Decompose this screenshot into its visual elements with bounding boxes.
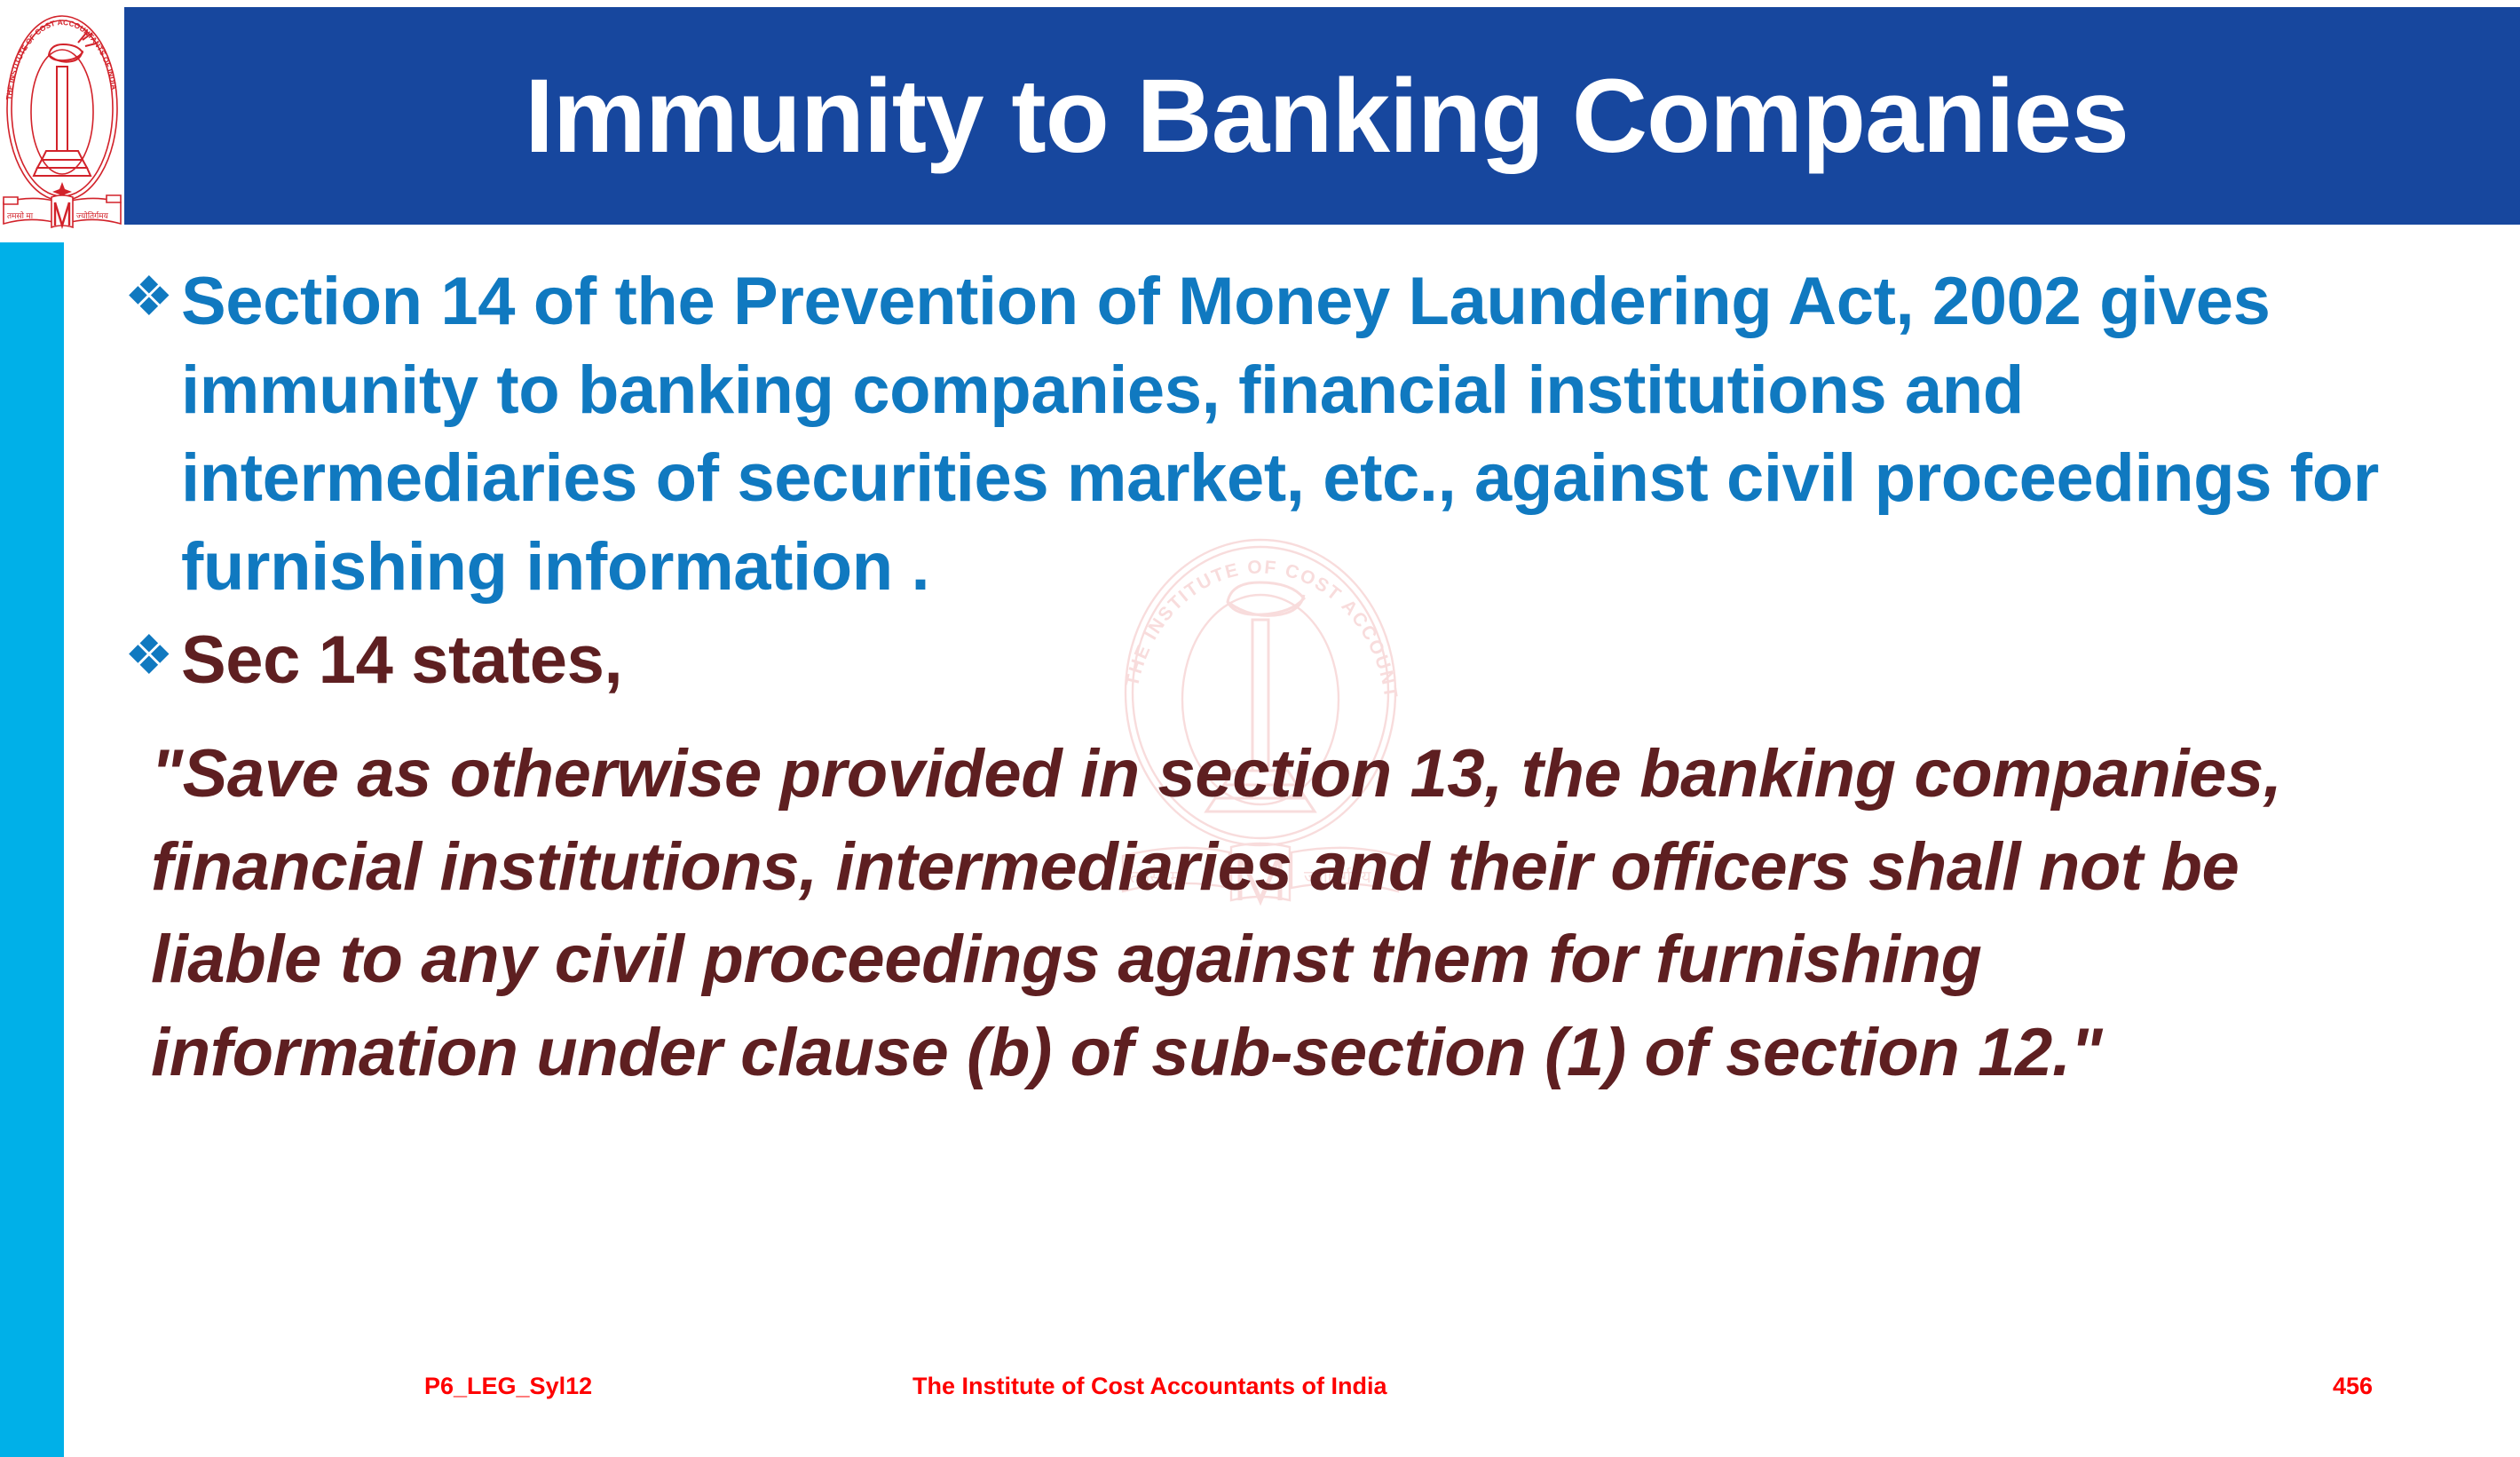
slide-footer: P6_LEG_Syl12 The Institute of Cost Accou… (0, 1362, 2520, 1415)
statute-quote-text: "Save as otherwise provided in section 1… (151, 728, 2441, 1101)
footer-syllabus-code: P6_LEG_Syl12 (424, 1373, 592, 1400)
bullet-item-1-text: Section 14 of the Prevention of Money La… (181, 257, 2441, 611)
svg-text:तमसो मा: तमसो मा (7, 210, 34, 220)
svg-text:ज्योतिर्गमय: ज्योतिर्गमय (76, 210, 109, 220)
bullet-item-2-text: Sec 14 states, (181, 616, 2441, 705)
slide-body: ❖ Section 14 of the Prevention of Money … (124, 257, 2441, 1100)
footer-page-number: 456 (2333, 1373, 2373, 1400)
page-title: Immunity to Banking Companies (124, 7, 2520, 225)
diamond-bullet-icon: ❖ (124, 257, 181, 325)
svg-text:THE INSTITUTE OF COST ACCOUNTA: THE INSTITUTE OF COST ACCOUNTANTS OF IND… (4, 18, 119, 100)
header-bar: Immunity to Banking Companies (124, 7, 2520, 225)
slide: Immunity to Banking Companies (0, 0, 2520, 1457)
diamond-bullet-icon: ❖ (124, 616, 181, 684)
bullet-item-2: ❖ Sec 14 states, (124, 616, 2441, 705)
left-accent-strip (0, 242, 64, 1457)
bullet-item-1: ❖ Section 14 of the Prevention of Money … (124, 257, 2441, 611)
icai-institute-logo: THE INSTITUTE OF COST ACCOUNTANTS OF IND… (0, 0, 124, 235)
footer-institute-name: The Institute of Cost Accountants of Ind… (912, 1373, 1387, 1400)
